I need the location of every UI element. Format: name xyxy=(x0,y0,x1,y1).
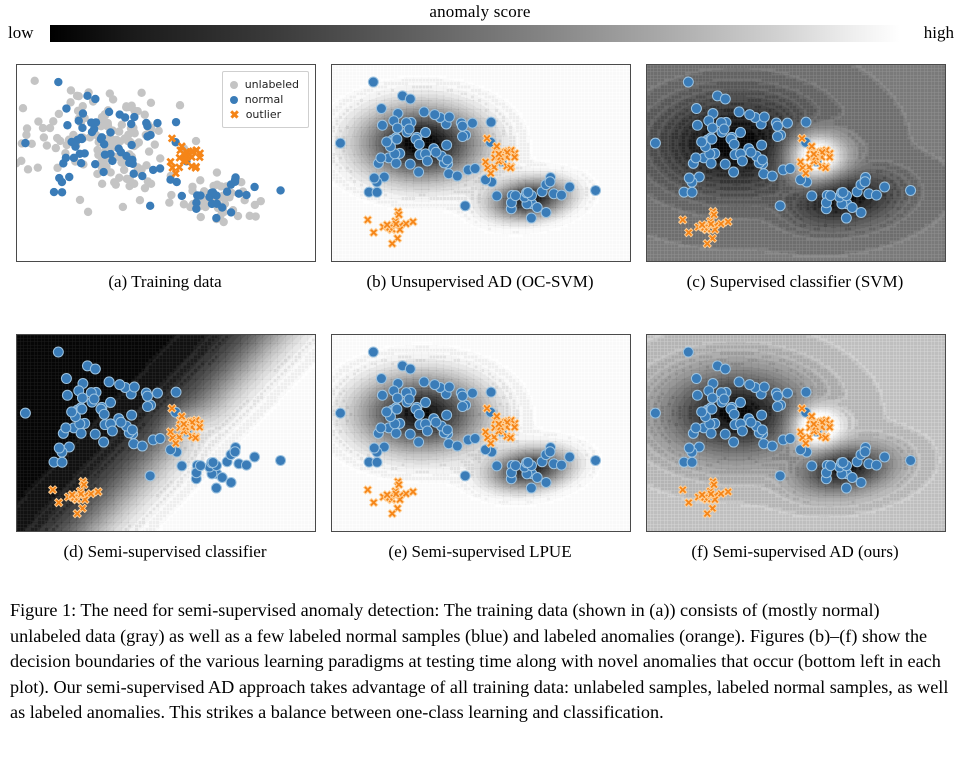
legend-label-normal: normal xyxy=(245,92,284,107)
legend-item-unlabeled: unlabeled xyxy=(230,77,299,92)
panel-a-training-data: unlabeled normal outlier xyxy=(16,64,316,262)
colorbar-high-label: high xyxy=(924,23,954,43)
legend-item-outlier: outlier xyxy=(230,107,299,122)
legend-item-normal: normal xyxy=(230,92,299,107)
panel-b-unsupervised-ad xyxy=(331,64,631,262)
legend-label-outlier: outlier xyxy=(246,107,281,122)
colorbar-gradient xyxy=(50,25,900,42)
figure-caption: Figure 1: The need for semi-supervised a… xyxy=(10,598,954,726)
panel-f-semi-supervised-ad xyxy=(646,334,946,532)
anomaly-score-colorbar: anomaly score low high xyxy=(0,0,960,48)
caption-panel-b: (b) Unsupervised AD (OC-SVM) xyxy=(330,272,630,292)
caption-panel-d: (d) Semi-supervised classifier xyxy=(15,542,315,562)
legend-dot-unlabeled-icon xyxy=(230,81,238,89)
panel-e-semi-supervised-lpue xyxy=(331,334,631,532)
colorbar-low-label: low xyxy=(8,23,34,43)
legend: unlabeled normal outlier xyxy=(222,71,309,128)
figure-1: anomaly score low high unlabeled normal … xyxy=(0,0,960,760)
colorbar-title: anomaly score xyxy=(0,2,960,22)
caption-panel-f: (f) Semi-supervised AD (ours) xyxy=(645,542,945,562)
panel-d-semi-supervised-classifier xyxy=(16,334,316,532)
panel-c-supervised-classifier xyxy=(646,64,946,262)
caption-panel-e: (e) Semi-supervised LPUE xyxy=(330,542,630,562)
legend-label-unlabeled: unlabeled xyxy=(245,77,299,92)
caption-panel-a: (a) Training data xyxy=(15,272,315,292)
caption-panel-c: (c) Supervised classifier (SVM) xyxy=(645,272,945,292)
legend-x-outlier-icon xyxy=(230,110,239,119)
legend-dot-normal-icon xyxy=(230,96,238,104)
